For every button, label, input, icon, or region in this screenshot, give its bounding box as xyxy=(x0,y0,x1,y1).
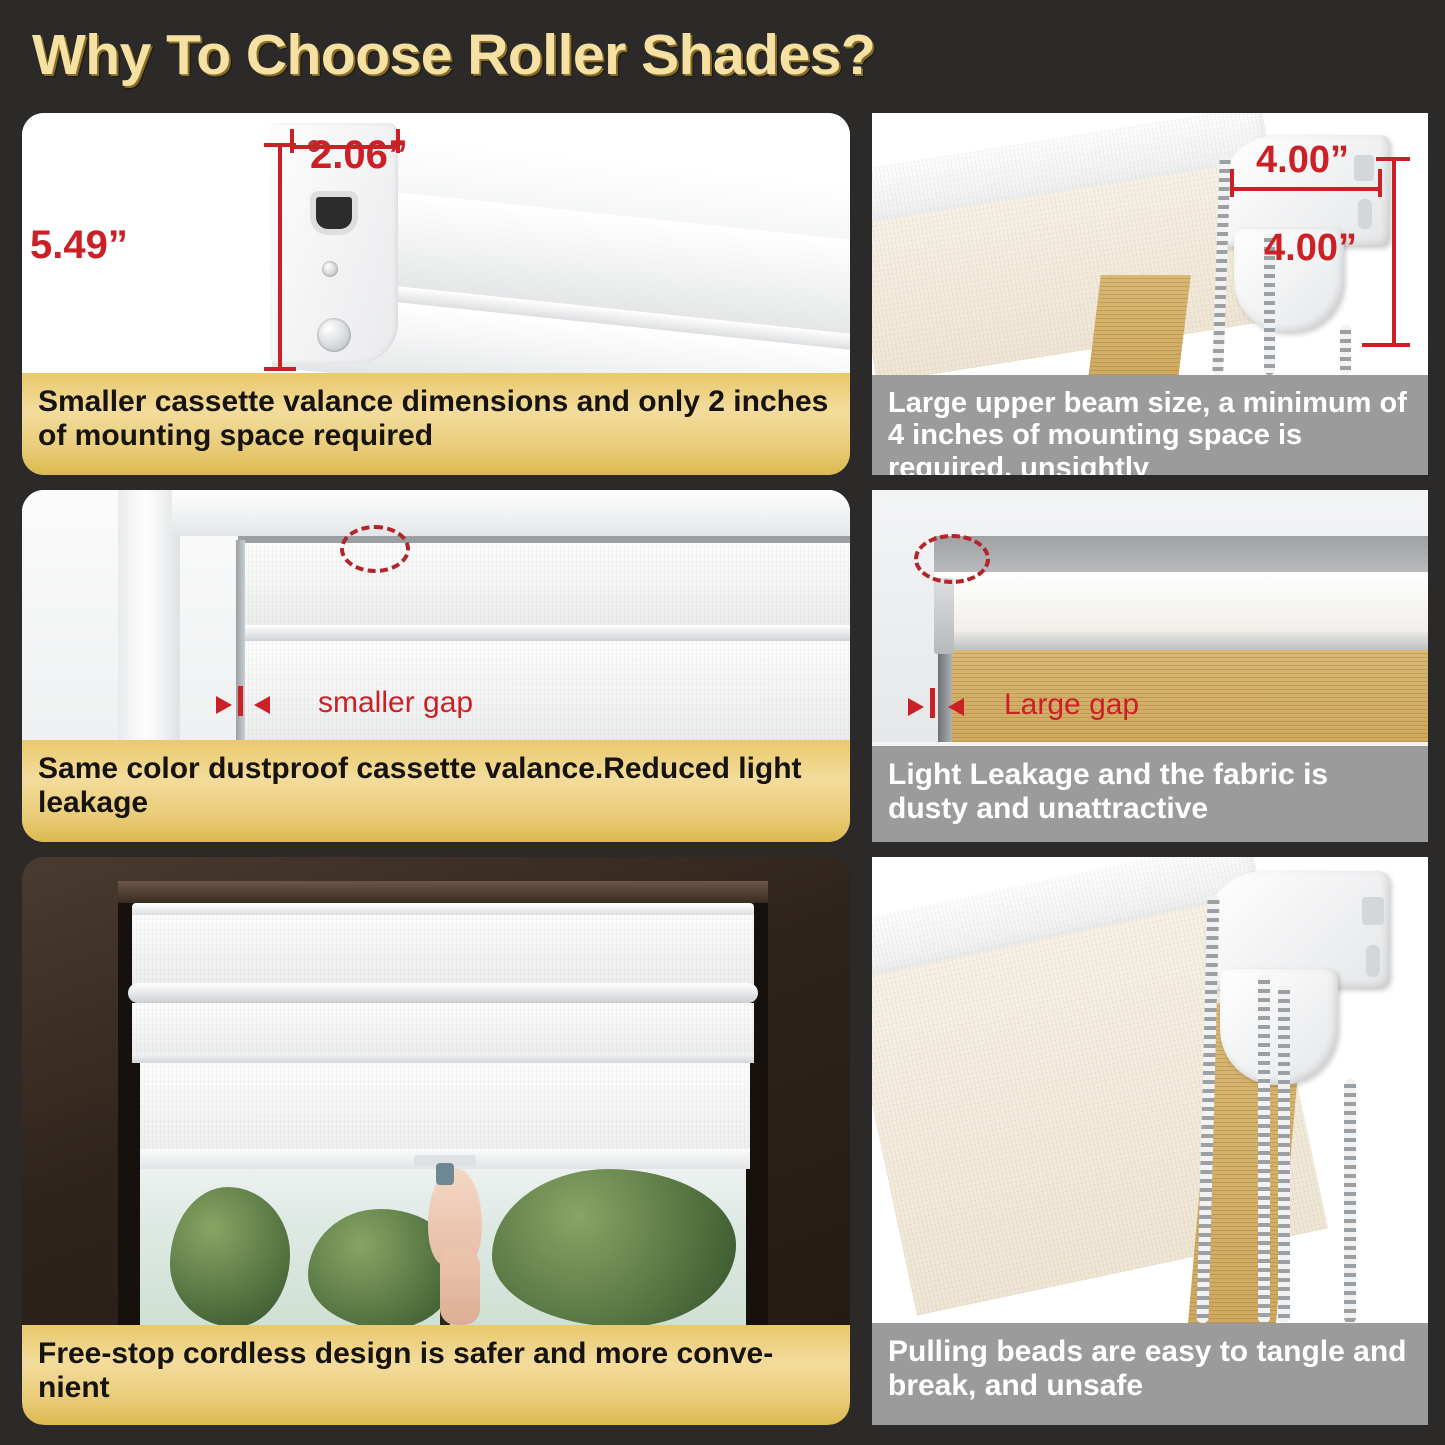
tr-width-dim-label: 4.00” xyxy=(1256,139,1349,182)
panel-mid-left-photo: smaller gap xyxy=(22,490,850,740)
valance-white-front xyxy=(934,572,1428,632)
large-gap-arrow-left xyxy=(908,698,924,716)
panel-bottom-right: Pulling beads are easy to tangle and bre… xyxy=(872,857,1428,1425)
height-dim-label: 5.49” xyxy=(30,223,128,268)
large-gap-bar xyxy=(930,688,935,718)
height-dim-line xyxy=(278,143,282,371)
panel-bottom-left: Free-stop cordless design is safer and m… xyxy=(22,857,850,1425)
bracket-slot-upper-br xyxy=(1362,897,1384,925)
caption-mid-right: Light Leakage and the fabric is dusty an… xyxy=(872,746,1428,842)
bead-chain-right-br xyxy=(1344,1079,1356,1323)
cassette-valance-face xyxy=(240,543,850,627)
window-casing-left-trim xyxy=(118,490,180,740)
panel-top-right: 4.00” 4.00” Large upper beam size, a min… xyxy=(872,113,1428,475)
tr-width-tick-right xyxy=(1378,169,1382,197)
window-casing-top-trim xyxy=(172,490,850,536)
caption-bottom-right: Pulling beads are easy to tangle and bre… xyxy=(872,1323,1428,1425)
height-dim-tick-top xyxy=(264,143,296,147)
forearm xyxy=(440,1249,480,1325)
caption-bottom-left: Free-stop cordless design is safer and m… xyxy=(22,1325,850,1425)
valance-lower-band xyxy=(132,1003,754,1055)
bead-chain-mid-br xyxy=(1258,975,1270,1323)
tr-height-dim-line xyxy=(1392,157,1396,347)
bracket-slot-lower xyxy=(1358,199,1372,229)
valance-screw-lower xyxy=(317,318,351,352)
tree-right xyxy=(492,1169,736,1325)
valance-lower-lip xyxy=(132,1053,754,1063)
valance-screw-upper xyxy=(322,261,338,277)
panel-mid-right: Large gap Light Leakage and the fabric i… xyxy=(872,490,1428,842)
height-dim-tick-bottom xyxy=(264,367,296,371)
valance-mid-lip xyxy=(128,983,758,1003)
gap-highlight-ellipse xyxy=(340,525,410,573)
panel-mid-left: smaller gap Same color dustproof cassett… xyxy=(22,490,850,842)
width-dim-tick-left xyxy=(290,129,294,153)
tr-width-tick-left xyxy=(1230,169,1234,197)
smaller-gap-arrow-left xyxy=(216,696,232,714)
panel-bottom-left-photo xyxy=(22,857,850,1325)
tr-height-tick-bottom xyxy=(1362,343,1410,347)
panel-top-left: 2.06” 5.49” Smaller cassette valance dim… xyxy=(22,113,850,475)
caption-top-right: Large upper beam size, a minimum of 4 in… xyxy=(872,375,1428,475)
page-title: Why To Choose Roller Shades? xyxy=(32,22,875,88)
infographic-root: Why To Choose Roller Shades? 2.06” 5.49” xyxy=(0,0,1445,1445)
pull-grip xyxy=(436,1163,454,1185)
valance-upper-face xyxy=(132,915,754,985)
cassette-bottom-lip xyxy=(240,625,850,641)
tree-left xyxy=(170,1187,290,1325)
large-gap-label: Large gap xyxy=(1004,688,1139,722)
bracket-slot-upper xyxy=(1354,155,1374,181)
bracket-slot-lower-br xyxy=(1366,945,1380,977)
tr-width-dim-line xyxy=(1230,187,1382,191)
shade-fabric-khaki-layer xyxy=(1087,275,1191,375)
window-reveal-top xyxy=(118,881,768,903)
cassette-head-edge xyxy=(238,536,850,543)
ceiling-shadow-band xyxy=(934,536,1428,574)
bead-chain-right xyxy=(1340,325,1351,375)
panel-top-left-photo: 2.06” 5.49” xyxy=(22,113,850,373)
smaller-gap-arrow-right xyxy=(254,696,270,714)
smaller-gap-bar xyxy=(238,686,243,716)
gap-label: smaller gap xyxy=(318,686,473,720)
tr-height-tick-top xyxy=(1376,157,1410,161)
panel-top-right-photo: 4.00” 4.00” xyxy=(872,113,1428,375)
caption-mid-left: Same color dustproof cassette valance.Re… xyxy=(22,740,850,842)
tr-height-dim-label: 4.00” xyxy=(1264,227,1357,270)
valance-bottom-edge xyxy=(934,632,1428,650)
valance-cord-slot xyxy=(316,197,352,229)
large-gap-arrow-right xyxy=(948,698,964,716)
bead-chain-mid2-br xyxy=(1278,985,1290,1323)
leak-highlight-ellipse xyxy=(914,534,990,584)
width-dim-label: 2.06” xyxy=(310,133,408,178)
valance-cap-top xyxy=(132,903,754,915)
caption-top-left: Smaller cassette valance dimensions and … xyxy=(22,373,850,475)
panel-bottom-right-photo xyxy=(872,857,1428,1323)
bracket-clip xyxy=(934,578,954,654)
